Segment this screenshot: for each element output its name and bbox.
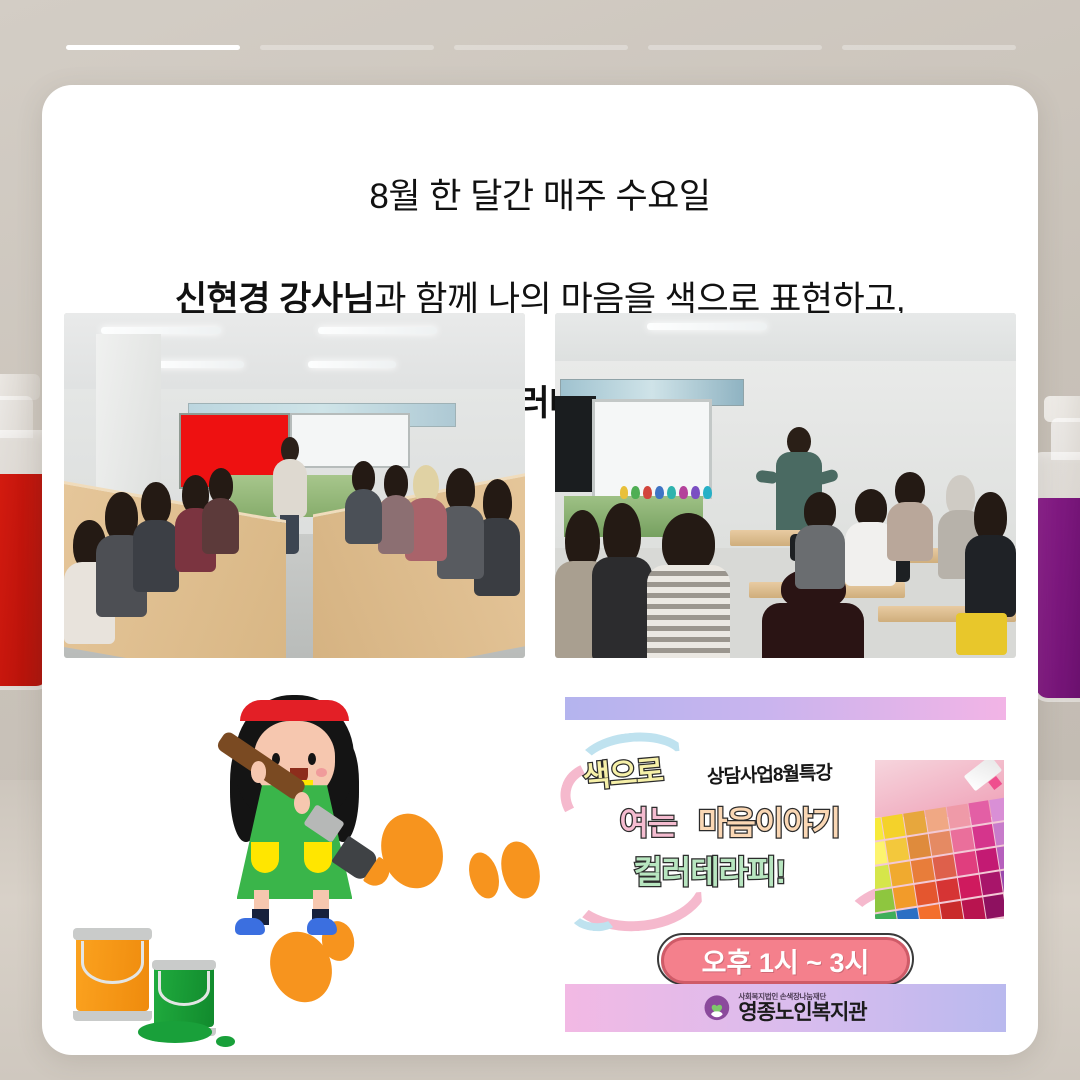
color-bottle bbox=[620, 486, 629, 500]
participant bbox=[592, 503, 652, 658]
program-poster[interactable]: 색으로 상담사업8월특강 여는 마음이야기 컬러테라피! bbox=[555, 683, 1016, 1043]
color-bottle bbox=[679, 486, 688, 500]
wall-monitor bbox=[555, 396, 596, 493]
color-bottle bbox=[643, 486, 652, 500]
bucket-handle bbox=[158, 971, 210, 1006]
color-bottle bbox=[667, 486, 676, 500]
hand-lower bbox=[294, 792, 310, 813]
shoe-left bbox=[235, 918, 265, 935]
color-swatch-photo bbox=[875, 760, 1004, 918]
logo-superscript: 사회복지법인 손색장나눔재단 bbox=[738, 993, 826, 1001]
bucket-handle bbox=[81, 941, 144, 984]
poster-top-gradient-bar bbox=[565, 697, 1006, 720]
headline-line-1: 8월 한 달간 매주 수요일 bbox=[70, 171, 1010, 223]
participant-body bbox=[133, 520, 179, 593]
participant bbox=[965, 492, 1016, 616]
girl-with-paintbrush-illustration bbox=[64, 683, 525, 1043]
participant-body bbox=[592, 557, 652, 658]
headband-icon bbox=[240, 700, 350, 721]
lower-row: 색으로 상담사업8월특강 여는 마음이야기 컬러테라피! bbox=[64, 683, 1016, 1043]
participant-body bbox=[795, 525, 846, 589]
bottle-liquid-purple bbox=[1036, 498, 1080, 698]
color-bottle bbox=[631, 486, 640, 500]
color-bottle bbox=[703, 486, 712, 500]
dress-pocket-right bbox=[304, 842, 332, 873]
poster-title-part2a: 여는 bbox=[620, 807, 677, 839]
participant-body bbox=[762, 603, 863, 658]
pantone-fan bbox=[875, 797, 1004, 919]
whiteboard bbox=[592, 399, 712, 499]
participant bbox=[202, 468, 239, 554]
ceiling-lamp bbox=[318, 327, 438, 334]
bucket-rim bbox=[73, 928, 151, 940]
participant-body bbox=[345, 489, 382, 544]
participant bbox=[378, 465, 415, 555]
participant bbox=[647, 513, 730, 658]
paint-splotch bbox=[496, 838, 546, 903]
bottle-liquid-red bbox=[0, 474, 48, 686]
participant-body bbox=[965, 535, 1016, 617]
progress-dash-3[interactable] bbox=[454, 45, 628, 50]
green-paint-drop bbox=[216, 1036, 234, 1047]
logo-text-group: 사회복지법인 손색장나눔재단 영종노인복지관 bbox=[738, 993, 866, 1024]
cheek-right bbox=[316, 768, 327, 777]
instructor-head bbox=[787, 427, 811, 456]
participant bbox=[133, 482, 179, 592]
logo-name: 영종노인복지관 bbox=[738, 1002, 866, 1023]
organization-logo: 사회복지법인 손색장나눔재단 영종노인복지관 bbox=[704, 993, 866, 1024]
carousel-progress-indicator[interactable] bbox=[66, 45, 1016, 53]
poster-subtitle: 상담사업8월특강 bbox=[707, 764, 833, 787]
ceiling-lamp bbox=[308, 361, 396, 368]
green-paint-spill bbox=[138, 1021, 212, 1043]
poster-title-part1: 색으로 bbox=[582, 757, 664, 794]
photo-audience-lecture[interactable] bbox=[555, 313, 1016, 658]
participant-body-striped bbox=[647, 565, 730, 658]
poster-title-part3: 컬러테라피! bbox=[633, 856, 785, 888]
purple-liquid-bottle bbox=[1032, 452, 1080, 702]
dress-pocket-left bbox=[251, 842, 279, 873]
color-bottle bbox=[655, 486, 664, 500]
ceiling bbox=[555, 313, 1016, 368]
content-card: 8월 한 달간 매주 수요일 신현경 강사님과 함께 나의 마음을 색으로 표현… bbox=[42, 85, 1038, 1055]
participant-body bbox=[202, 498, 239, 555]
time-badge[interactable]: 오후 1시 ~ 3시 bbox=[661, 937, 910, 984]
yellow-bag bbox=[956, 613, 1007, 654]
girl-figure bbox=[216, 690, 373, 928]
participant bbox=[887, 472, 933, 562]
progress-dash-2[interactable] bbox=[260, 45, 434, 50]
poster-title-part2b: 마음이야기 bbox=[698, 807, 840, 839]
participant bbox=[795, 492, 846, 589]
participant-body bbox=[378, 495, 415, 554]
progress-dash-5[interactable] bbox=[842, 45, 1016, 50]
instructor-body bbox=[273, 459, 307, 518]
welfare-center-logo-icon bbox=[704, 995, 730, 1021]
progress-dash-1[interactable] bbox=[66, 45, 240, 50]
poster-bottom-gradient-bar: 사회복지법인 손색장나눔재단 영종노인복지관 bbox=[565, 984, 1006, 1033]
photo-classroom-lecture[interactable] bbox=[64, 313, 525, 658]
hand-upper bbox=[251, 761, 267, 782]
orange-paint-bucket bbox=[73, 928, 151, 1022]
participant bbox=[345, 461, 382, 544]
bucket-base bbox=[73, 1011, 151, 1021]
eye-right bbox=[308, 753, 316, 765]
bucket-rim bbox=[152, 960, 217, 970]
ceiling-lamp bbox=[647, 323, 767, 330]
participant-body bbox=[887, 502, 933, 561]
paint-splotch bbox=[464, 849, 503, 902]
ceiling-lamp bbox=[156, 361, 244, 368]
progress-dash-4[interactable] bbox=[648, 45, 822, 50]
shoe-right bbox=[307, 918, 337, 935]
color-bottle bbox=[691, 486, 700, 500]
color-bottle-row bbox=[620, 486, 712, 500]
photo-row bbox=[64, 313, 1016, 658]
